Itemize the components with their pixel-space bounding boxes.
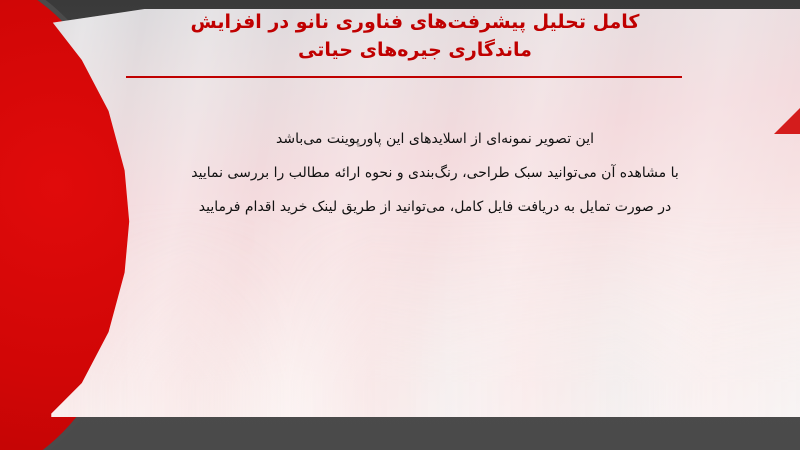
body-line-3: در صورت تمایل به دریافت فایل کامل، می‌تو…: [150, 190, 720, 224]
title-line-1: کامل تحلیل پیشرفت‌های فناوری نانو در افز…: [70, 8, 760, 36]
title-line-2: ماندگاری جیره‌های حیاتی: [70, 36, 760, 64]
title-underline: [126, 76, 682, 78]
slide-body-text: این تصویر نمونه‌ای از اسلایدهای این پاور…: [150, 122, 720, 224]
slide-title: کامل تحلیل پیشرفت‌های فناوری نانو در افز…: [70, 8, 760, 64]
presentation-slide: کامل تحلیل پیشرفت‌های فناوری نانو در افز…: [0, 0, 800, 450]
body-line-2: با مشاهده آن می‌توانید سبک طراحی، رنگ‌بن…: [150, 156, 720, 190]
body-line-1: این تصویر نمونه‌ای از اسلایدهای این پاور…: [150, 122, 720, 156]
